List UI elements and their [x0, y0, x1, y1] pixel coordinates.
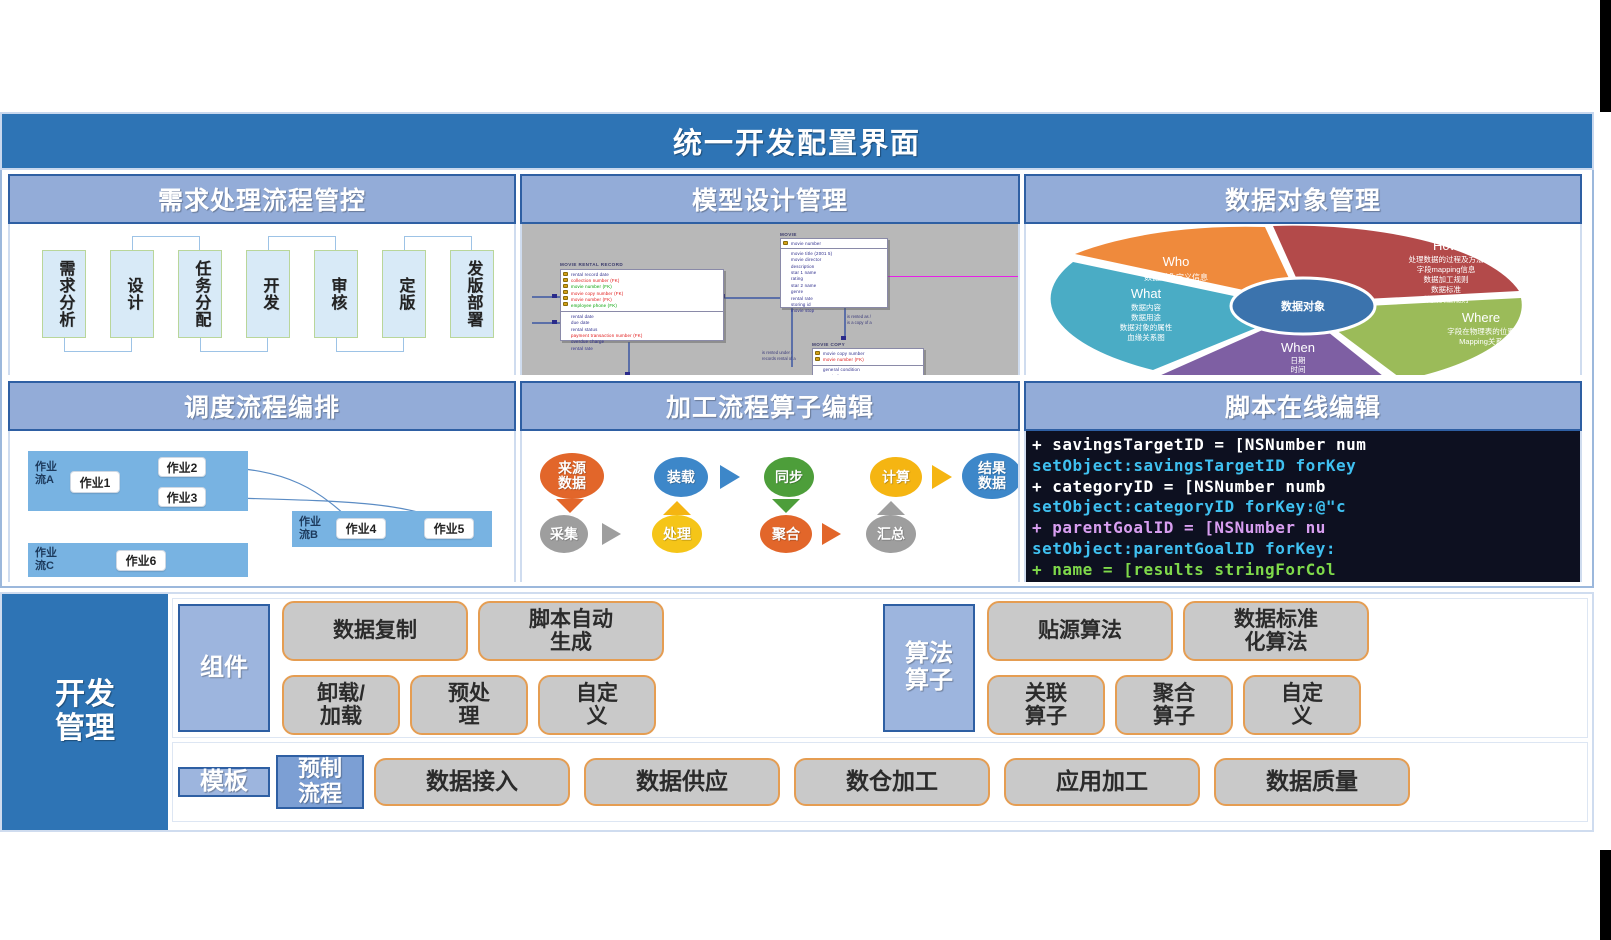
operator-node-result[interactable]: 结果 数据	[962, 453, 1020, 499]
panel-header-operator: 加工流程算子编辑	[520, 381, 1020, 431]
er-attr-line: rental rate	[571, 346, 721, 352]
operator-label: 计算	[882, 470, 910, 485]
right-edge-strip-top	[1600, 0, 1611, 112]
panel-body-operator: 来源 数据 装载 同步 计算 结果 数据 采集 处理 聚合 汇总	[520, 431, 1020, 582]
er-key-block: movie number	[781, 239, 887, 249]
operator-node-load[interactable]: 装载	[654, 457, 708, 497]
pill-application-processing[interactable]: 应用加工	[1004, 758, 1200, 806]
panel-title-operator: 加工流程算子编辑	[666, 388, 874, 424]
er-entity-movie-rental-record[interactable]: rental record date collection number (FK…	[560, 269, 724, 341]
er-entity-title: MOVIE COPY	[812, 342, 845, 347]
flow-stage-label: 设计	[124, 277, 141, 311]
flow-stage-1[interactable]: 需求分析	[42, 250, 86, 338]
pill-data-quality[interactable]: 数据质量	[1214, 758, 1410, 806]
flow-connector-top-1	[132, 236, 200, 250]
panel-title-requirement: 需求处理流程管控	[158, 181, 366, 217]
arrow-down-green-icon	[772, 499, 800, 513]
job-flow-a-label: 作业 流A	[35, 461, 61, 486]
templates-pill-area: 数据接入 数据供应 数仓加工 应用加工 数据质量	[370, 758, 1582, 806]
er-endpoint	[552, 294, 557, 298]
dev-management-title: 开发 管理	[55, 678, 115, 747]
panel-script-editor[interactable]: 脚本在线编辑 + savingsTargetID = [NSNumber num…	[1024, 381, 1582, 584]
flow-stage-2[interactable]: 设计	[110, 250, 154, 338]
er-key-block: rental record date collection number (FK…	[561, 270, 723, 312]
panel-scheduling[interactable]: 调度流程编排 作业 流A 作业1 作业2 作业3	[8, 381, 516, 584]
pill-join-operator[interactable]: 关联 算子	[987, 675, 1105, 735]
job-node-4[interactable]: 作业4	[336, 518, 386, 539]
er-relationship-label: is rented under / records rental of a	[762, 350, 796, 363]
code-line: setObject:savingsTargetID forKey	[1032, 456, 1580, 477]
code-line: setObject:categoryID forKey:@"c	[1032, 497, 1580, 518]
pie-label-how-line: 数据标准	[1431, 284, 1461, 294]
pill-data-supply[interactable]: 数据供应	[584, 758, 780, 806]
flow-connector-top-2	[268, 236, 336, 250]
flow-connector-top-3	[404, 236, 472, 250]
pie-label-what-key: What	[1131, 286, 1162, 301]
pie-label-where-key: Where	[1462, 310, 1500, 325]
er-endpoint	[625, 372, 630, 375]
dev-band-components-algorithms: 组件 数据复制 脚本自动 生成 卸载/ 加载 预处 理 自定 义	[172, 598, 1588, 738]
job-node-6[interactable]: 作业6	[116, 550, 166, 571]
pie-label-how-line: 数据质量规则	[1424, 294, 1469, 304]
right-edge-strip-bottom	[1600, 850, 1611, 940]
category-templates[interactable]: 模板	[178, 767, 270, 798]
flow-stage-3[interactable]: 任务分配	[178, 250, 222, 338]
job-node-2[interactable]: 作业2	[158, 457, 206, 477]
job-node-1[interactable]: 作业1	[70, 471, 120, 493]
pill-data-ingestion[interactable]: 数据接入	[374, 758, 570, 806]
pill-script-auto-generation[interactable]: 脚本自动 生成	[478, 601, 664, 661]
pill-unload-load[interactable]: 卸载/ 加载	[282, 675, 400, 735]
slide-root: 统一开发配置界面 需求处理流程管控 需求分析 设计 任务分配 开发 审核 定版 …	[0, 0, 1611, 940]
operator-label: 来源 数据	[558, 461, 586, 490]
er-diagram-canvas: MOVIE RENTAL RECORD rental record date c…	[522, 224, 1018, 375]
operator-node-compute[interactable]: 计算	[870, 457, 922, 497]
pie-label-what-line: 数据内容	[1131, 302, 1161, 312]
operator-label: 处理	[663, 527, 691, 542]
pie-label-who-line: 数据对象定义信息	[1144, 272, 1208, 282]
pie-chart-svg: 数据对象 Who 数据对象定义信息 How 处理数据的过程及方法 字段mappi…	[1026, 224, 1580, 375]
arrow-down-orange-icon	[556, 499, 584, 513]
operator-label: 汇总	[877, 527, 905, 542]
panel-body-requirement: 需求分析 设计 任务分配 开发 审核 定版 发版部署	[8, 224, 516, 375]
panel-requirement-flow[interactable]: 需求处理流程管控 需求分析 设计 任务分配 开发 审核 定版 发版部署	[8, 174, 516, 377]
operator-label: 装载	[667, 470, 695, 485]
pie-label-where-line: Mapping关系	[1459, 336, 1503, 346]
code-line: + categoryID = [NSNumber numb	[1032, 477, 1580, 498]
arrow-up-gray-icon	[877, 501, 905, 515]
operator-label: 同步	[775, 470, 803, 485]
er-relationship-label: is rented as / is a copy of a	[847, 314, 872, 327]
er-entity-title: MOVIE RENTAL RECORD	[560, 262, 623, 267]
category-preset-flow-label: 预制 流程	[298, 757, 342, 806]
pill-custom-operator[interactable]: 自定 义	[1243, 675, 1361, 735]
flow-stage-label: 开发	[260, 277, 277, 311]
dev-management-title-block: 开发 管理	[2, 594, 168, 830]
pill-data-replication[interactable]: 数据复制	[282, 601, 468, 661]
flow-stage-label: 任务分配	[192, 260, 209, 328]
er-endpoint	[841, 336, 846, 340]
flow-stage-6[interactable]: 定版	[382, 250, 426, 338]
pie-label-when-line: 日期	[1291, 356, 1306, 365]
er-key-block: movie copy number movie number (FK)	[813, 349, 923, 366]
pill-standardization-algorithm[interactable]: 数据标准 化算法	[1183, 601, 1369, 661]
panel-header-scheduling: 调度流程编排	[8, 381, 516, 431]
algorithms-pill-area: 贴源算法 数据标准 化算法 关联 算子 聚合 算子 自定 义	[983, 604, 1582, 732]
operator-node-process[interactable]: 处理	[652, 515, 702, 553]
feature-row-1: 需求处理流程管控 需求分析 设计 任务分配 开发 审核 定版 发版部署	[8, 174, 1586, 377]
flow-stage-label: 需求分析	[56, 260, 73, 328]
panel-data-object[interactable]: 数据对象管理 数据对象	[1024, 174, 1582, 377]
data-object-diagram: 数据对象 Who 数据对象定义信息 How 处理数据的过程及方法 字段mappi…	[1026, 224, 1580, 375]
flow-stage-label: 发版部署	[464, 260, 481, 328]
arrow-right-yellow-icon	[932, 465, 952, 489]
feature-grid: 需求处理流程管控 需求分析 设计 任务分配 开发 审核 定版 发版部署	[0, 170, 1594, 588]
code-line: + name = [results stringForCol	[1032, 560, 1580, 581]
code-editor-surface[interactable]: + savingsTargetID = [NSNumber num setObj…	[1026, 431, 1580, 582]
arrow-up-yellow-icon	[663, 501, 691, 515]
flow-stage-label: 审核	[328, 277, 345, 311]
job-node-5[interactable]: 作业5	[424, 518, 474, 539]
category-templates-label: 模板	[200, 769, 248, 796]
components-group: 组件 数据复制 脚本自动 生成 卸载/ 加载 预处 理 自定 义	[178, 604, 877, 732]
panel-header-script: 脚本在线编辑	[1024, 381, 1582, 431]
dev-band-templates: 模板 预制 流程 数据接入 数据供应 数仓加工 应用加工 数据质量	[172, 742, 1588, 822]
job-flow-c-label: 作业 流C	[35, 547, 61, 572]
flow-connector-bottom-1	[64, 338, 132, 352]
main-title-bar: 统一开发配置界面	[0, 112, 1594, 170]
pie-label-how-key: How	[1433, 238, 1460, 253]
pie-label-when-line: 时间	[1291, 364, 1306, 374]
algorithms-pill-row-2: 关联 算子 聚合 算子 自定 义	[987, 675, 1582, 735]
panel-header-object: 数据对象管理	[1024, 174, 1582, 224]
flow-stage-7[interactable]: 发版部署	[450, 250, 494, 338]
er-endpoint	[552, 320, 557, 324]
category-algorithms[interactable]: 算法 算子	[883, 604, 975, 732]
development-management-section: 开发 管理 组件 数据复制 脚本自动 生成 卸载/ 加载	[0, 592, 1594, 832]
pie-label-who-key: Who	[1163, 254, 1190, 269]
operator-node-collect[interactable]: 采集	[540, 515, 588, 553]
panel-body-script: + savingsTargetID = [NSNumber num setObj…	[1024, 431, 1582, 582]
operator-node-summary[interactable]: 汇总	[866, 515, 916, 553]
pie-label-what-line: 数据对象的属性	[1120, 322, 1173, 332]
pie-label-how-line: 数据加工规则	[1424, 274, 1469, 284]
feature-row-2: 调度流程编排 作业 流A 作业1 作业2 作业3	[8, 381, 1586, 584]
job-flow-b-label: 作业 流B	[299, 516, 325, 541]
category-components[interactable]: 组件	[178, 604, 270, 732]
category-algorithms-label: 算法 算子	[905, 641, 953, 695]
pie-label-what-line: 血缘关系图	[1127, 332, 1165, 342]
operator-label: 采集	[550, 527, 578, 542]
er-entity-movie-copy[interactable]: movie copy number movie number (FK) gene…	[812, 348, 924, 375]
panel-title-scheduling: 调度流程编排	[184, 388, 340, 424]
panel-model-design[interactable]: 模型设计管理	[520, 174, 1020, 377]
flow-stage-label: 定版	[396, 277, 413, 311]
panel-body-scheduling: 作业 流A 作业1 作业2 作业3 作业 流B 作业4 作业5 作业 流C 作业…	[8, 431, 516, 582]
er-entity-movie[interactable]: movie number movie title (2001 5) movie …	[780, 238, 888, 308]
pill-custom-component[interactable]: 自定 义	[538, 675, 656, 735]
er-attr-block: rental date due date rental status payme…	[561, 312, 723, 353]
operator-node-sync[interactable]: 同步	[764, 457, 814, 497]
pill-source-algorithm[interactable]: 贴源算法	[987, 601, 1173, 661]
operator-node-source[interactable]: 来源 数据	[540, 453, 604, 499]
pill-warehouse-processing[interactable]: 数仓加工	[794, 758, 990, 806]
pie-center-label: 数据对象	[1281, 299, 1325, 313]
job-flow-a[interactable]: 作业 流A	[28, 451, 248, 511]
er-attr-block: movie title (2001 5) movie director desc…	[781, 249, 887, 316]
er-attr-block: general condition movie format	[813, 366, 923, 375]
algorithms-pill-row-1: 贴源算法 数据标准 化算法	[987, 601, 1582, 661]
category-preset-flow[interactable]: 预制 流程	[276, 755, 364, 808]
flow-connector-bottom-2	[200, 338, 268, 352]
pie-label-when-key: When	[1281, 340, 1315, 355]
pie-label-what-line: 数据用途	[1131, 312, 1161, 322]
components-pill-row-2: 卸载/ 加载 预处 理 自定 义	[282, 675, 877, 735]
code-line: setObject:name forKey:@"name"	[1032, 581, 1580, 582]
pie-label-how-line: 处理数据的过程及方法	[1409, 254, 1484, 264]
operator-label: 聚合	[772, 527, 800, 542]
panel-operator-edit[interactable]: 加工流程算子编辑 来源 数据 装载 同步 计算 结果 数据 采集 处理 聚合 汇…	[520, 381, 1020, 584]
flow-stage-5[interactable]: 审核	[314, 250, 358, 338]
panel-body-model: MOVIE RENTAL RECORD rental record date c…	[520, 224, 1020, 375]
job-node-3[interactable]: 作业3	[158, 487, 206, 507]
code-line: setObject:parentGoalID forKey:	[1032, 539, 1580, 560]
pie-label-where-line: 字段在物理表的位置	[1447, 326, 1515, 336]
code-line: + savingsTargetID = [NSNumber num	[1032, 435, 1580, 456]
er-key-line: movie number (FK)	[823, 357, 921, 363]
pie-label-how-line: 字段mapping信息	[1417, 264, 1476, 274]
components-pill-area: 数据复制 脚本自动 生成 卸载/ 加载 预处 理 自定 义	[278, 604, 877, 732]
components-pill-row-1: 数据复制 脚本自动 生成	[282, 601, 877, 661]
dev-management-content: 组件 数据复制 脚本自动 生成 卸载/ 加载 预处 理 自定 义	[168, 594, 1592, 830]
algorithms-group: 算法 算子 贴源算法 数据标准 化算法 关联 算子 聚合 算子 自定 义	[883, 604, 1582, 732]
arrow-right-orange-icon	[822, 523, 841, 545]
er-key-line: movie number	[791, 241, 885, 247]
code-line: + parentGoalID = [NSNumber nu	[1032, 518, 1580, 539]
er-attr-line: movie format	[823, 374, 921, 375]
operator-node-aggregate[interactable]: 聚合	[760, 515, 812, 553]
arrow-right-blue-icon	[720, 465, 740, 489]
pill-aggregate-operator[interactable]: 聚合 算子	[1115, 675, 1233, 735]
category-components-label: 组件	[200, 655, 248, 682]
flow-stage-4[interactable]: 开发	[246, 250, 290, 338]
panel-body-object: 数据对象 Who 数据对象定义信息 How 处理数据的过程及方法 字段mappi…	[1024, 224, 1582, 375]
panel-title-script: 脚本在线编辑	[1225, 388, 1381, 424]
panel-title-model: 模型设计管理	[692, 181, 848, 217]
panel-header-requirement: 需求处理流程管控	[8, 174, 516, 224]
operator-label: 结果 数据	[978, 461, 1006, 490]
er-entity-title: MOVIE	[780, 232, 797, 237]
panel-header-model: 模型设计管理	[520, 174, 1020, 224]
er-key-line: employee phone (FK)	[571, 303, 721, 309]
arrow-right-gray-icon	[602, 523, 621, 545]
panel-title-object: 数据对象管理	[1225, 181, 1381, 217]
pill-preprocess[interactable]: 预处 理	[410, 675, 528, 735]
page-title: 统一开发配置界面	[673, 120, 921, 162]
flow-connector-bottom-3	[336, 338, 404, 352]
